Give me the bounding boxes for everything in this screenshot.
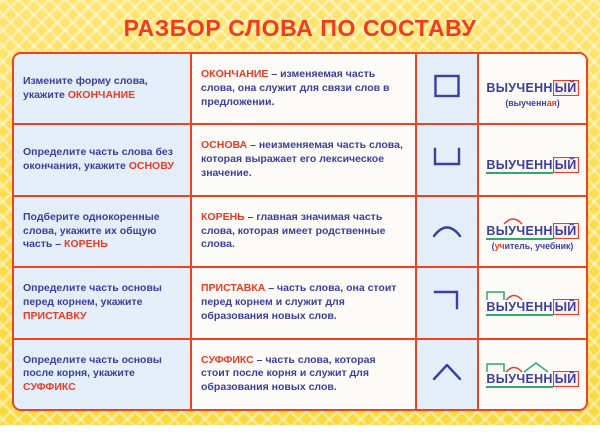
- example-word-wrap: ВЫУЧЕННЫЙ: [486, 289, 578, 316]
- definition-text: ОСНОВА – неизменяемая часть слова, котор…: [201, 139, 406, 181]
- task-text-lead: Определите часть основы после корня, ука…: [23, 354, 162, 380]
- example-word-wrap: ВЫУЧЕННЫЙ: [486, 213, 578, 240]
- definition-cell: ПРИСТАВКА – часть слова, она стоит перед…: [192, 268, 417, 337]
- table-row: Подберите однокоренные слова, укажите их…: [14, 197, 586, 268]
- example-word-stem: ВЫУЧЕНН: [486, 81, 552, 95]
- root-arc-symbol: [430, 216, 464, 247]
- ending-marker-box: ЫЙ: [553, 223, 579, 239]
- example-note: (учитель, учебник): [492, 241, 574, 251]
- table-row: Определите часть слова без окончания, ук…: [14, 125, 586, 196]
- example-word-wrap: ВЫУЧЕННЫЙ: [486, 361, 578, 388]
- symbol-cell: [417, 197, 479, 266]
- example-note: (выученная): [505, 98, 559, 108]
- word-analysis-poster: РАЗБОР СЛОВА ПО СОСТАВУ Измените форму с…: [0, 0, 600, 434]
- example-word-block: ВЫУЧЕННЫЙ: [486, 147, 578, 174]
- table-row: Измените форму слова, укажите ОКОНЧАНИЕ …: [14, 54, 586, 125]
- example-word: ВЫУЧЕННЫЙ: [486, 223, 578, 239]
- ending-marker-box: ЫЙ: [553, 299, 579, 315]
- definition-cell: КОРЕНЬ – главная значимая часть слова, к…: [192, 197, 417, 266]
- task-text: Определите часть слова без окончания, ук…: [23, 146, 181, 174]
- task-text: Определите часть основы перед корнем, ук…: [23, 282, 181, 324]
- task-keyword: СУФФИКС: [23, 381, 76, 393]
- example-cell: ВЫУЧЕННЫЙ: [479, 125, 586, 194]
- definition-term: ОКОНЧАНИЕ: [201, 68, 268, 80]
- example-note-highlight: уч: [495, 241, 505, 251]
- task-text-lead: Определите часть основы перед корнем, ук…: [23, 282, 162, 308]
- task-keyword: ОКОНЧАНИЕ: [68, 89, 135, 101]
- example-cell: ВЫУЧЕННЫЙ (выученная): [479, 54, 586, 123]
- definition-text: КОРЕНЬ – главная значимая часть слова, к…: [201, 211, 406, 253]
- example-note-tail: ): [557, 98, 560, 108]
- rules-table: Измените форму слова, укажите ОКОНЧАНИЕ …: [12, 52, 588, 411]
- stem-underline-marker: ВЫУЧЕНН: [486, 224, 552, 240]
- example-word: ВЫУЧЕННЫЙ: [486, 371, 578, 387]
- stem-underline-marker: ВЫУЧЕНН: [486, 300, 552, 316]
- definition-text: ПРИСТАВКА – часть слова, она стоит перед…: [201, 282, 406, 324]
- ending-marker-box: ЫЙ: [553, 371, 579, 387]
- task-cell: Измените форму слова, укажите ОКОНЧАНИЕ: [14, 54, 192, 123]
- definition-cell: ОСНОВА – неизменяемая часть слова, котор…: [192, 125, 417, 194]
- symbol-cell: [417, 268, 479, 337]
- example-word: ВЫУЧЕННЫЙ: [486, 299, 578, 315]
- example-word: ВЫУЧЕННЫЙ: [486, 157, 578, 173]
- prefix-flag-symbol: [431, 287, 463, 318]
- poster-header: РАЗБОР СЛОВА ПО СОСТАВУ: [6, 4, 594, 52]
- ending-marker-box: ЫЙ: [553, 80, 579, 96]
- definition-text: СУФФИКС – часть слова, которая стоит пос…: [201, 354, 406, 396]
- stem-bracket-symbol: [431, 145, 463, 176]
- definition-cell: СУФФИКС – часть слова, которая стоит пос…: [192, 340, 417, 409]
- task-cell: Определите часть слова без окончания, ук…: [14, 125, 192, 194]
- example-word-block: ВЫУЧЕННЫЙ (выученная): [486, 70, 578, 108]
- stem-underline-marker: ВЫУЧЕНН: [486, 372, 552, 388]
- symbol-cell: [417, 340, 479, 409]
- task-keyword: ПРИСТАВКУ: [23, 310, 87, 322]
- example-cell: ВЫУЧЕННЫЙ: [479, 340, 586, 409]
- task-text: Определите часть основы после корня, ука…: [23, 354, 181, 396]
- suffix-caret-symbol: [430, 359, 464, 390]
- task-cell: Определите часть основы перед корнем, ук…: [14, 268, 192, 337]
- task-text: Подберите однокоренные слова, укажите их…: [23, 211, 181, 253]
- definition-term: ПРИСТАВКА: [201, 282, 265, 294]
- ending-marker-box: ЫЙ: [553, 157, 579, 173]
- example-cell: ВЫУЧЕННЫЙ: [479, 268, 586, 337]
- example-word-wrap: ВЫУЧЕННЫЙ: [486, 70, 578, 97]
- task-keyword: КОРЕНЬ: [64, 238, 108, 250]
- example-word-block: ВЫУЧЕННЫЙ (учитель, учебник): [486, 213, 578, 251]
- task-cell: Подберите однокоренные слова, укажите их…: [14, 197, 192, 266]
- task-cell: Определите часть основы после корня, ука…: [14, 340, 192, 409]
- table-row: Определите часть основы после корня, ука…: [14, 340, 586, 409]
- example-note-tail: итель, учебник): [505, 241, 574, 251]
- symbol-cell: [417, 125, 479, 194]
- ending-square-symbol: [432, 73, 462, 104]
- definition-text: ОКОНЧАНИЕ – изменяемая часть слова, она …: [201, 68, 406, 110]
- task-text: Измените форму слова, укажите ОКОНЧАНИЕ: [23, 75, 181, 103]
- definition-term: СУФФИКС: [201, 354, 254, 366]
- symbol-cell: [417, 54, 479, 123]
- example-cell: ВЫУЧЕННЫЙ (учитель, учебник): [479, 197, 586, 266]
- example-word-block: ВЫУЧЕННЫЙ: [486, 289, 578, 316]
- example-word-wrap: ВЫУЧЕННЫЙ: [486, 147, 578, 174]
- example-word-block: ВЫУЧЕННЫЙ: [486, 361, 578, 388]
- table-row: Определите часть основы перед корнем, ук…: [14, 268, 586, 339]
- definition-term: КОРЕНЬ: [201, 211, 245, 223]
- example-word: ВЫУЧЕННЫЙ: [486, 80, 578, 96]
- example-note-lead: (выученн: [505, 98, 546, 108]
- example-note-highlight: ая: [547, 98, 557, 108]
- definition-term: ОСНОВА: [201, 139, 247, 151]
- page-title: РАЗБОР СЛОВА ПО СОСТАВУ: [124, 17, 477, 40]
- task-keyword: ОСНОВУ: [129, 160, 174, 172]
- stem-underline-marker: ВЫУЧЕНН: [486, 158, 552, 174]
- definition-cell: ОКОНЧАНИЕ – изменяемая часть слова, она …: [192, 54, 417, 123]
